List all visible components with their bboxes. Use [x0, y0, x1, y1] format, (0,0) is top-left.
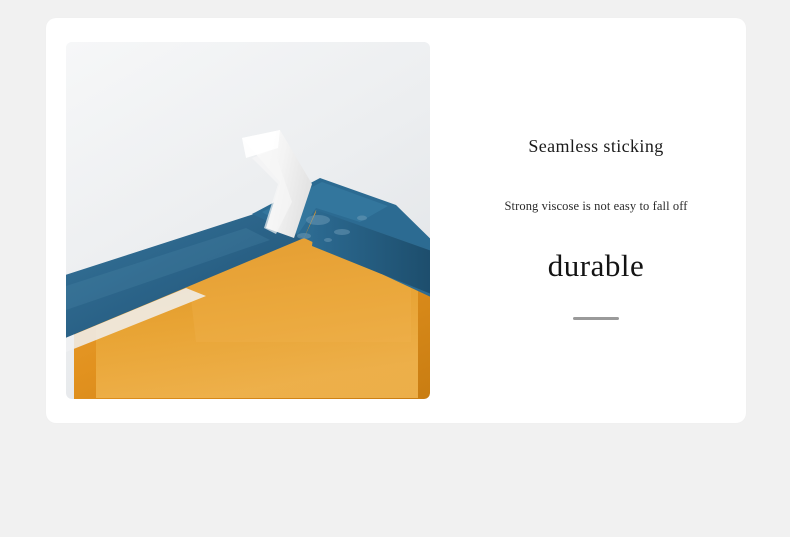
bigword-text: durable — [446, 248, 746, 284]
subline-text: Strong viscose is not easy to fall off — [446, 199, 746, 214]
product-photo — [66, 42, 430, 399]
page-root: Seamless sticking Strong viscose is not … — [0, 0, 790, 537]
product-card: Seamless sticking Strong viscose is not … — [46, 18, 746, 423]
copy-block: Seamless sticking Strong viscose is not … — [446, 18, 746, 423]
divider-rule — [573, 317, 619, 320]
product-photo-illustration — [66, 42, 430, 399]
headline-text: Seamless sticking — [446, 136, 746, 157]
